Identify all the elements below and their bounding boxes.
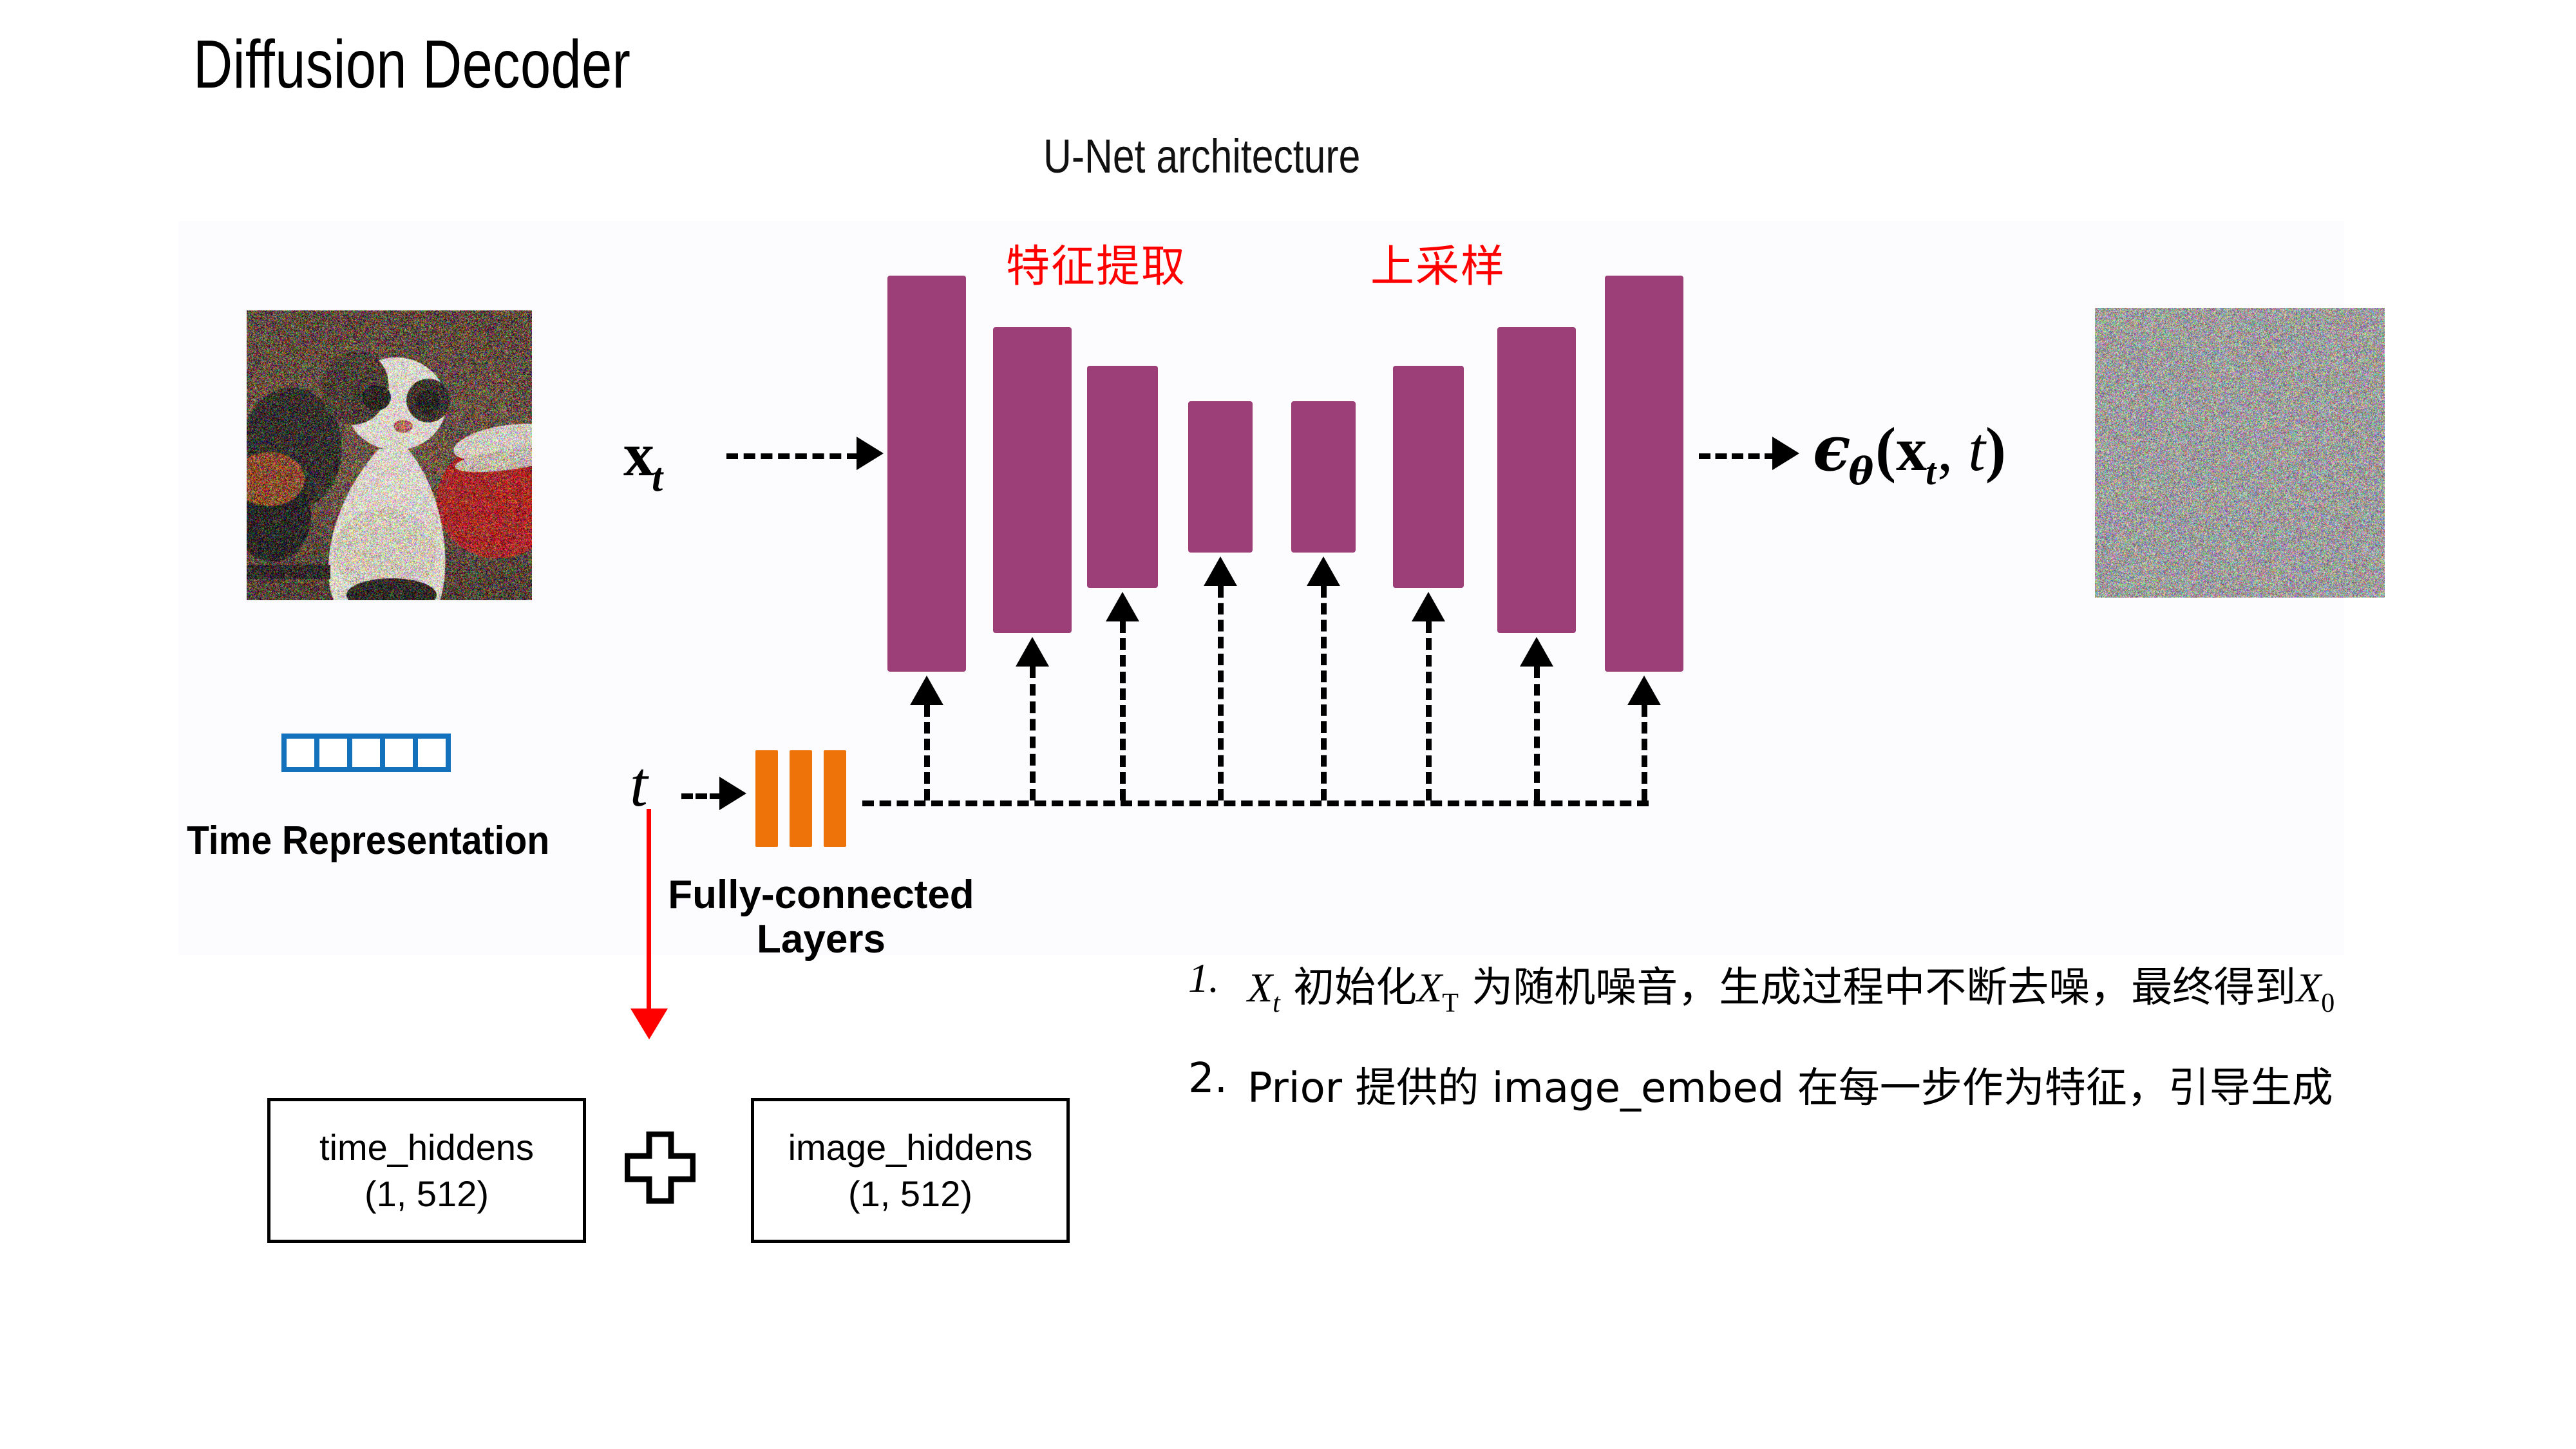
comma: , xyxy=(1937,415,1968,484)
unet-block-up-1 xyxy=(1393,366,1464,588)
conditioning-arrowhead-bottleneck-left xyxy=(1204,556,1237,586)
x-subscript: t xyxy=(1926,451,1936,493)
fc-bar xyxy=(755,750,778,847)
time-symbol-label: t xyxy=(630,747,648,821)
xt-subscript: t xyxy=(652,456,663,500)
unet-block-bottleneck-left xyxy=(1188,401,1253,553)
time-representation-label: Time Representation xyxy=(187,818,549,864)
conditioning-arrowhead-down-3 xyxy=(1106,592,1139,621)
dashed-line-t-to-fc xyxy=(681,793,721,799)
time-hiddens-name: time_hiddens xyxy=(319,1124,534,1171)
conditioning-branch-bottleneck-right xyxy=(1321,586,1327,800)
note-1-body: Xt 初始化XT 为随机噪音，生成过程中不断去噪，最终得到X0 xyxy=(1247,954,2334,1014)
note-item-1: 1. Xt 初始化XT 为随机噪音，生成过程中不断去噪，最终得到X0 xyxy=(1188,954,2553,1014)
plus-sign-icon xyxy=(625,1132,696,1204)
unet-block-down-3 xyxy=(1087,366,1158,588)
conditioning-arrowhead-down-1 xyxy=(910,676,943,705)
annotation-upsampling: 上采样 xyxy=(1370,231,1506,294)
note-1-x1-sub: t xyxy=(1273,989,1280,1018)
conditioning-arrowhead-up-2 xyxy=(1520,637,1553,667)
predicted-noise-image xyxy=(2095,308,2385,598)
image-hiddens-name: image_hiddens xyxy=(788,1124,1033,1171)
conditioning-arrowhead-up-1 xyxy=(1412,592,1445,621)
arrowhead-output xyxy=(1772,437,1799,470)
notes-list: 1. Xt 初始化XT 为随机噪音，生成过程中不断去噪，最终得到X0 2. Pr… xyxy=(1188,954,2553,1114)
xt-base: x xyxy=(623,420,654,489)
fully-connected-bars xyxy=(755,750,846,847)
fc-bar xyxy=(790,750,812,847)
input-xt-label: xt xyxy=(623,419,665,490)
fully-connected-label: Fully-connected Layers xyxy=(667,873,976,962)
conditioning-branch-down-1 xyxy=(924,705,930,800)
conditioning-arrowhead-bottleneck-right xyxy=(1307,556,1340,586)
output-epsilon-label: ϵθ(xt, t) xyxy=(1813,412,2006,485)
time-rep-cell xyxy=(413,734,451,772)
note-1-x2: X xyxy=(1417,965,1442,1010)
note-1-x1: X xyxy=(1247,965,1273,1010)
noisy-input-image xyxy=(247,310,532,600)
note-2-body: Prior 提供的 image_embed 在每一步作为特征，引导生成 xyxy=(1247,1055,2333,1114)
note-1-text-a: 初始化 xyxy=(1293,964,1417,1012)
dashed-line-output xyxy=(1699,453,1776,459)
image-hiddens-box: image_hiddens (1, 512) xyxy=(751,1098,1070,1243)
paren-open: ( xyxy=(1875,415,1896,484)
arrowhead-input xyxy=(857,437,884,470)
unet-block-up-2 xyxy=(1497,327,1576,633)
fc-bar xyxy=(824,750,846,847)
dashed-line-input xyxy=(726,453,858,459)
note-1-x2-sub: T xyxy=(1442,989,1459,1018)
image-hiddens-shape: (1, 512) xyxy=(848,1171,972,1217)
theta-subscript: θ xyxy=(1848,450,1873,493)
x-glyph: x xyxy=(1896,415,1927,484)
epsilon-glyph: ϵ xyxy=(1813,412,1850,485)
unet-block-up-3 xyxy=(1605,276,1683,672)
unet-block-bottleneck-right xyxy=(1291,401,1356,553)
note-1-x3: X xyxy=(2296,965,2321,1010)
diagram-subtitle: U-Net architecture xyxy=(1043,129,1360,184)
conditioning-branch-down-2 xyxy=(1030,667,1036,800)
conditioning-bus-line xyxy=(862,800,1649,806)
t-glyph: t xyxy=(1968,415,1985,484)
note-1-text-b: 为随机噪音，生成过程中不断去噪，最终得到 xyxy=(1472,964,2296,1012)
conditioning-arrowhead-down-2 xyxy=(1016,637,1049,667)
note-1-number: 1. xyxy=(1188,954,1247,1002)
annotation-feature-extraction: 特征提取 xyxy=(1006,231,1186,294)
time-hiddens-shape: (1, 512) xyxy=(365,1171,489,1217)
note-item-2: 2. Prior 提供的 image_embed 在每一步作为特征，引导生成 xyxy=(1188,1055,2553,1114)
red-arrow-head xyxy=(630,1009,668,1039)
red-arrow-shaft xyxy=(647,809,651,1015)
conditioning-branch-bottleneck-left xyxy=(1218,586,1224,800)
conditioning-arrowhead-up-3 xyxy=(1627,676,1661,705)
note-1-x3-sub: 0 xyxy=(2321,989,2334,1018)
note-2-number: 2. xyxy=(1188,1055,1247,1103)
conditioning-branch-up-2 xyxy=(1534,667,1540,800)
page-title: Diffusion Decoder xyxy=(193,26,630,104)
fc-label-line2: Layers xyxy=(667,917,976,961)
arrowhead-t-to-fc xyxy=(719,777,746,810)
fc-label-line1: Fully-connected xyxy=(667,873,976,917)
unet-block-down-1 xyxy=(887,276,966,672)
time-hiddens-box: time_hiddens (1, 512) xyxy=(267,1098,586,1243)
conditioning-branch-down-3 xyxy=(1120,621,1126,800)
paren-close: ) xyxy=(1985,415,2006,484)
conditioning-branch-up-1 xyxy=(1426,621,1432,800)
conditioning-branch-up-3 xyxy=(1642,705,1647,800)
unet-block-down-2 xyxy=(993,327,1072,633)
time-representation-grid xyxy=(281,734,446,772)
